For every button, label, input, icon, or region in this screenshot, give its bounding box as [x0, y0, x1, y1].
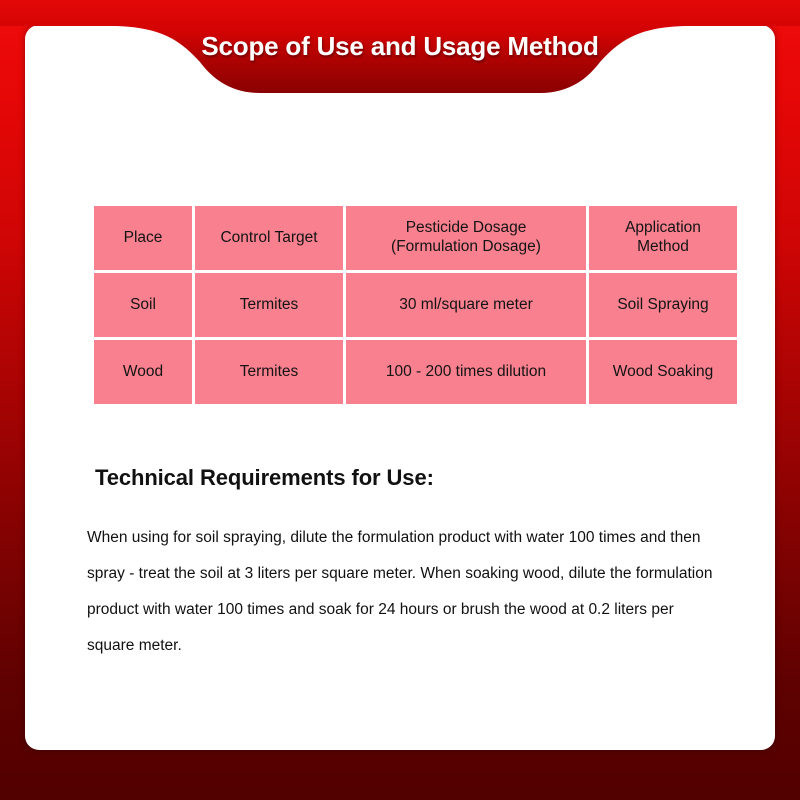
poster-root: Place Control Target Pesticide Dosage (F…: [0, 0, 800, 800]
table-header-control-target: Control Target: [195, 206, 343, 270]
cell-dosage: 30 ml/square meter: [346, 273, 586, 337]
technical-requirements-heading: Technical Requirements for Use:: [95, 465, 434, 491]
table-header-row: Place Control Target Pesticide Dosage (F…: [94, 206, 737, 270]
cell-place: Wood: [94, 340, 192, 404]
table-row: Soil Termites 30 ml/square meter Soil Sp…: [94, 273, 737, 337]
table-header-pesticide-dosage: Pesticide Dosage (Formulation Dosage): [346, 206, 586, 270]
table-header-application-method-line2: Method: [593, 238, 733, 257]
cell-place: Soil: [94, 273, 192, 337]
cell-control-target: Termites: [195, 340, 343, 404]
table-header-application-method-line1: Application: [593, 219, 733, 238]
table-row: Wood Termites 100 - 200 times dilution W…: [94, 340, 737, 404]
content-panel: Place Control Target Pesticide Dosage (F…: [25, 25, 775, 750]
table-header-control-target-label: Control Target: [199, 229, 339, 248]
cell-application-method: Soil Spraying: [589, 273, 737, 337]
cell-application-method: Wood Soaking: [589, 340, 737, 404]
table-header-pesticide-dosage-line1: Pesticide Dosage: [350, 219, 582, 238]
technical-requirements-paragraph: When using for soil spraying, dilute the…: [87, 520, 717, 664]
table-header-pesticide-dosage-line2: (Formulation Dosage): [350, 238, 582, 257]
table-header-place-label: Place: [98, 229, 188, 248]
cell-control-target: Termites: [195, 273, 343, 337]
table-header-place: Place: [94, 206, 192, 270]
banner-title: Scope of Use and Usage Method: [0, 31, 800, 62]
table-header-application-method: Application Method: [589, 206, 737, 270]
cell-dosage: 100 - 200 times dilution: [346, 340, 586, 404]
technical-requirements-body: When using for soil spraying, dilute the…: [87, 520, 717, 664]
specification-table: Place Control Target Pesticide Dosage (F…: [91, 203, 740, 407]
